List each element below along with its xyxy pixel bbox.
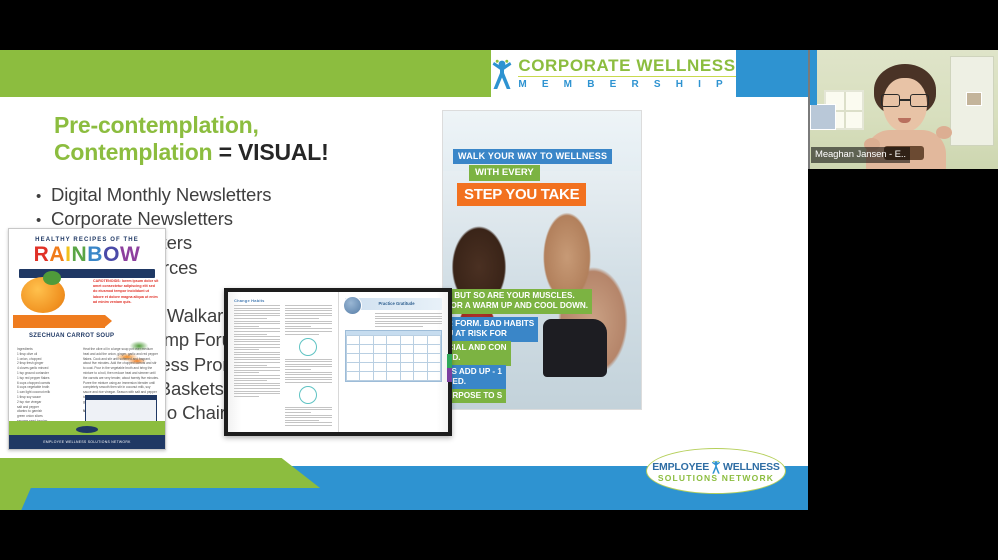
poster-body-bar: HT BUT SO ARE YOUR MUSCLES. I FOR A WARM…	[442, 289, 592, 314]
flyer-rainbow-title: RAINBOW	[9, 244, 165, 265]
flyer-footer-text: EMPLOYEE WELLNESS SOLUTIONS NETWORK	[9, 435, 165, 444]
poster-headline-3: STEP YOU TAKE	[457, 183, 586, 206]
flyer-ribbon	[13, 315, 105, 328]
booklet-callout-bubble	[299, 338, 317, 356]
list-item: •Digital Monthly Newsletters	[36, 183, 386, 207]
poster-runner-shorts	[543, 319, 607, 377]
footer-logo-left: EMPLOYEE	[652, 461, 709, 473]
flyer-recipe-name: SZECHUAN CARROT SOUP	[29, 333, 114, 339]
booklet-intro-text	[375, 313, 443, 327]
rainbow-letter: W	[120, 243, 140, 266]
rainbow-letter: R	[34, 243, 50, 266]
flyer-header: HEALTHY RECIPES OF THE RAINBOW	[9, 229, 165, 278]
video-tile-border	[808, 50, 998, 169]
rainbow-letter: N	[72, 243, 88, 266]
poster-body-bar: UR FORM. BAD HABITS OU AT RISK FOR	[442, 317, 538, 342]
participant-video-tile[interactable]: Meaghan Jansen - E..	[808, 50, 998, 169]
slide-top-green-band	[0, 50, 491, 97]
rainbow-letter: B	[87, 243, 103, 266]
flyer-red-note: CAROTENOIDS: lorem ipsum dolor sit amet …	[93, 279, 159, 305]
slide-bottom-green-chevron	[0, 458, 320, 488]
booklet-photo	[343, 296, 362, 315]
poster-body-bar: OCIAL AND CON END.	[442, 341, 511, 366]
logo-line-2: M E M B E R S H I P	[518, 77, 735, 90]
footer-logo-right: WELLNESS	[723, 461, 780, 473]
bullet-marker: •	[36, 187, 51, 207]
booklet-right-page: Practice Gratitude	[339, 292, 449, 432]
booklet-edge-tabs	[447, 354, 452, 382]
person-star-icon	[491, 58, 513, 90]
logo-line-1: CORPORATE WELLNESS	[518, 57, 735, 77]
walk-your-way-poster: WALK YOUR WAY TO WELLNESS WITH EVERY STE…	[442, 110, 642, 410]
presentation-slide: CORPORATE WELLNESS M E M B E R S H I P P…	[0, 50, 808, 510]
booklet-text-column	[285, 305, 331, 428]
video-conference-stage: CORPORATE WELLNESS M E M B E R S H I P P…	[0, 0, 998, 560]
employee-wellness-logo: EMPLOYEE WELLNESS SOLUTIONS NETWORK	[646, 448, 786, 494]
title-emphasis: = VISUAL!	[219, 139, 329, 165]
open-booklet: Change Habits	[224, 288, 452, 436]
person-star-icon	[711, 460, 721, 474]
rainbow-recipe-flyer: HEALTHY RECIPES OF THE RAINBOW SZECHUAN …	[8, 228, 166, 450]
title-line-2: Contemplation	[54, 139, 219, 165]
poster-headline-1: WALK YOUR WAY TO WELLNESS	[453, 149, 612, 164]
booklet-left-page: Change Habits	[228, 292, 339, 432]
nutrition-table	[85, 395, 157, 423]
flyer-navy-footer: EMPLOYEE WELLNESS SOLUTIONS NETWORK	[9, 435, 165, 449]
bullet-label: Digital Monthly Newsletters	[51, 183, 271, 207]
poster-headline-2: WITH EVERY	[469, 165, 540, 181]
slide-top-blue-block	[736, 50, 808, 97]
booklet-left-title: Change Habits	[234, 298, 332, 303]
booklet-text-column	[234, 305, 280, 428]
corporate-wellness-logo: CORPORATE WELLNESS M E M B E R S H I P	[491, 50, 736, 97]
gratitude-calendar	[345, 330, 443, 382]
slide-title: Pre-contemplation, Contemplation = VISUA…	[54, 112, 384, 166]
footer-logo-tagline: SOLUTIONS NETWORK	[658, 473, 774, 483]
orange-vegetable-photo	[21, 277, 65, 313]
rainbow-letter: O	[103, 243, 120, 266]
booklet-right-title: Practice Gratitude	[379, 301, 415, 306]
title-line-1: Pre-contemplation,	[54, 112, 259, 138]
flyer-footer-disk	[76, 426, 98, 433]
booklet-callout-bubble	[299, 386, 317, 404]
rainbow-letter: A	[49, 243, 65, 266]
